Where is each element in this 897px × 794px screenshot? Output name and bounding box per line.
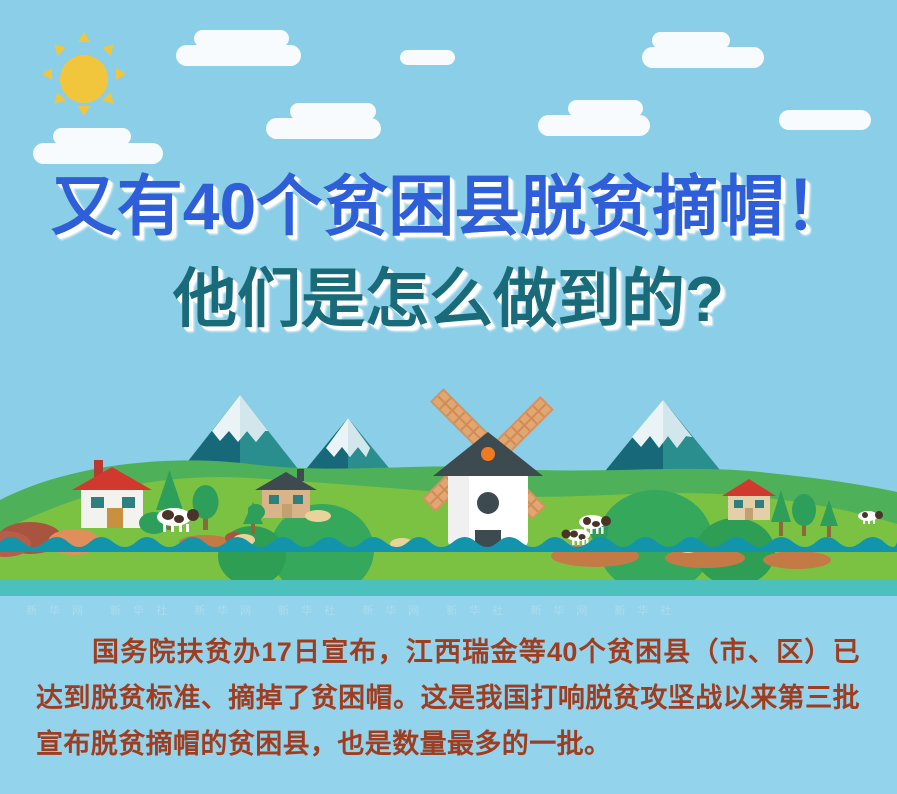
- house-right: [714, 474, 794, 530]
- window: [293, 495, 303, 504]
- infographic-poster: 又有40个贫困县脱贫摘帽！ 他们是怎么做到的? 新华网 新华社 新华网 新华社 …: [0, 0, 897, 794]
- cloud-icon: [642, 32, 777, 72]
- window: [91, 497, 104, 508]
- house-roof: [255, 472, 317, 490]
- watermark-text: 新华网 新华社 新华网 新华社 新华网 新华社 新华网 新华社: [26, 602, 871, 618]
- windmill-hub: [481, 447, 495, 461]
- sun-ray-icon: [78, 32, 90, 42]
- water-shallow-band: [0, 578, 897, 596]
- sun-icon: [35, 30, 133, 128]
- water-wave-edge: [0, 536, 897, 552]
- cloud-icon: [538, 100, 663, 140]
- window: [269, 495, 279, 504]
- cloud-icon: [33, 128, 178, 168]
- headline-line-2: 他们是怎么做到的?: [0, 262, 897, 336]
- cow-icon: [855, 509, 885, 527]
- sun-ray-icon: [78, 106, 90, 116]
- windmill: [385, 372, 595, 562]
- cloud-icon: [400, 50, 460, 66]
- sun-ray-icon: [42, 68, 52, 80]
- house-mid: [248, 466, 338, 528]
- cloud-icon: [779, 110, 879, 132]
- house-roof: [72, 467, 152, 490]
- door: [282, 504, 292, 518]
- sun-ray-icon: [50, 40, 66, 56]
- sun-ray-icon: [50, 92, 66, 108]
- tree-icon: [792, 494, 816, 526]
- window: [122, 497, 135, 508]
- door: [107, 508, 123, 528]
- rock: [305, 510, 331, 522]
- sun-ray-icon: [116, 68, 126, 80]
- door: [745, 508, 753, 520]
- cloud-icon: [266, 103, 396, 143]
- windmill-window: [477, 492, 499, 514]
- headline-line-1: 又有40个贫困县脱贫摘帽！: [0, 168, 897, 244]
- house-roof: [722, 479, 776, 496]
- body-panel: 新华网 新华社 新华网 新华社 新华网 新华社 新华网 新华社 国务院扶贫办17…: [0, 596, 897, 794]
- headline-block: 又有40个贫困县脱贫摘帽！ 他们是怎么做到的?: [0, 168, 897, 336]
- cow-icon: [148, 505, 208, 535]
- window: [734, 500, 743, 508]
- body-paragraph: 国务院扶贫办17日宣布，江西瑞金等40个贫困县（市、区）已达到脱贫标准、摘掉了贫…: [36, 629, 860, 767]
- tree-icon: [820, 500, 838, 526]
- sun-ray-icon: [102, 40, 118, 56]
- sun-ray-icon: [102, 92, 118, 108]
- window: [755, 500, 764, 508]
- cloud-icon: [176, 30, 316, 70]
- sun-disc: [60, 55, 108, 103]
